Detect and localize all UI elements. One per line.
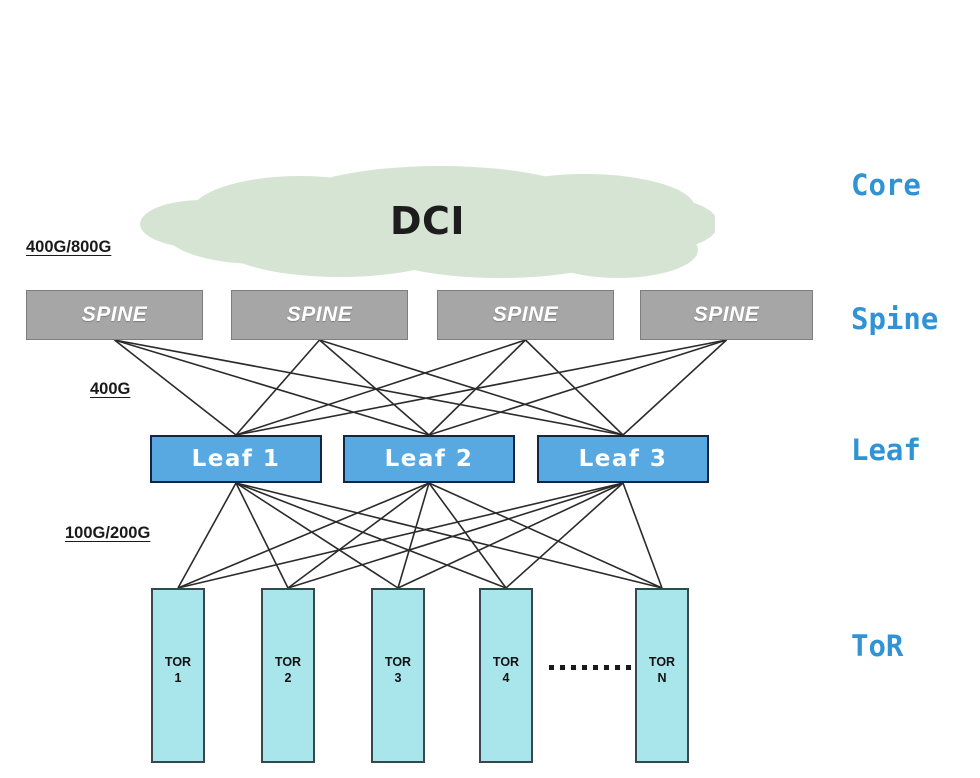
bandwidth-label-spine-to-leaf: 400G — [90, 380, 130, 399]
leaf-node-1[interactable]: Leaf 1 — [150, 435, 322, 483]
spine-node-3[interactable]: SPINE — [437, 290, 614, 340]
spine-node-1[interactable]: SPINE — [26, 290, 203, 340]
tor-node-3-index: 3 — [385, 671, 411, 687]
tor-node-1-label: TOR — [165, 655, 191, 671]
link-leaf2-tor3 — [398, 483, 429, 588]
link-spine3-leaf2 — [429, 340, 526, 435]
tor-node-2[interactable]: TOR 2 — [261, 588, 315, 763]
tor-node-n-label: TOR — [649, 655, 675, 671]
link-leaf2-tor5 — [429, 483, 662, 588]
link-spine2-leaf2 — [320, 340, 430, 435]
spine-node-4[interactable]: SPINE — [640, 290, 813, 340]
bandwidth-label-core-to-spine: 400G/800G — [26, 238, 111, 257]
link-spine2-leaf3 — [320, 340, 624, 435]
link-leaf1-tor1 — [178, 483, 236, 588]
tor-node-4-index: 4 — [493, 671, 519, 687]
tor-node-1-index: 1 — [165, 671, 191, 687]
tier-label-tor: ToR — [851, 629, 903, 663]
link-spine4-leaf1 — [236, 340, 727, 435]
tor-node-n[interactable]: TOR N — [635, 588, 689, 763]
link-spine4-leaf3 — [623, 340, 727, 435]
link-leaf2-tor2 — [288, 483, 429, 588]
link-spine3-leaf3 — [526, 340, 624, 435]
link-leaf1-tor2 — [236, 483, 288, 588]
link-leaf1-tor3 — [236, 483, 398, 588]
leaf-node-3[interactable]: Leaf 3 — [537, 435, 709, 483]
tor-node-4[interactable]: TOR 4 — [479, 588, 533, 763]
link-spine1-leaf3 — [115, 340, 624, 435]
link-spine1-leaf2 — [115, 340, 430, 435]
link-leaf2-tor1 — [178, 483, 429, 588]
tor-node-4-label: TOR — [493, 655, 519, 671]
leaf-node-2[interactable]: Leaf 2 — [343, 435, 515, 483]
link-leaf3-tor4 — [506, 483, 623, 588]
link-spine4-leaf2 — [429, 340, 727, 435]
link-leaf1-tor5 — [236, 483, 662, 588]
link-spine1-leaf1 — [115, 340, 237, 435]
tier-label-spine: Spine — [851, 302, 938, 336]
tor-node-2-index: 2 — [275, 671, 301, 687]
dci-cloud: DCI — [140, 162, 715, 280]
tor-node-3[interactable]: TOR 3 — [371, 588, 425, 763]
tor-node-n-index: N — [649, 671, 675, 687]
tier-label-leaf: Leaf — [851, 433, 921, 467]
link-spine3-leaf1 — [236, 340, 526, 435]
spine-node-2[interactable]: SPINE — [231, 290, 408, 340]
link-leaf2-tor4 — [429, 483, 506, 588]
topology-diagram: DCI 400G/800G 400G 100G/200G SPINE SPINE… — [0, 0, 980, 778]
link-leaf3-tor2 — [288, 483, 623, 588]
link-leaf1-tor4 — [236, 483, 506, 588]
tor-node-1[interactable]: TOR 1 — [151, 588, 205, 763]
link-spine2-leaf1 — [236, 340, 320, 435]
link-leaf3-tor3 — [398, 483, 623, 588]
link-leaf3-tor5 — [623, 483, 662, 588]
bandwidth-label-leaf-to-tor: 100G/200G — [65, 524, 150, 543]
tor-node-3-label: TOR — [385, 655, 411, 671]
dci-label: DCI — [140, 162, 715, 280]
tor-ellipsis — [549, 665, 631, 670]
link-leaf3-tor1 — [178, 483, 623, 588]
tier-label-core: Core — [851, 168, 921, 202]
tor-node-2-label: TOR — [275, 655, 301, 671]
